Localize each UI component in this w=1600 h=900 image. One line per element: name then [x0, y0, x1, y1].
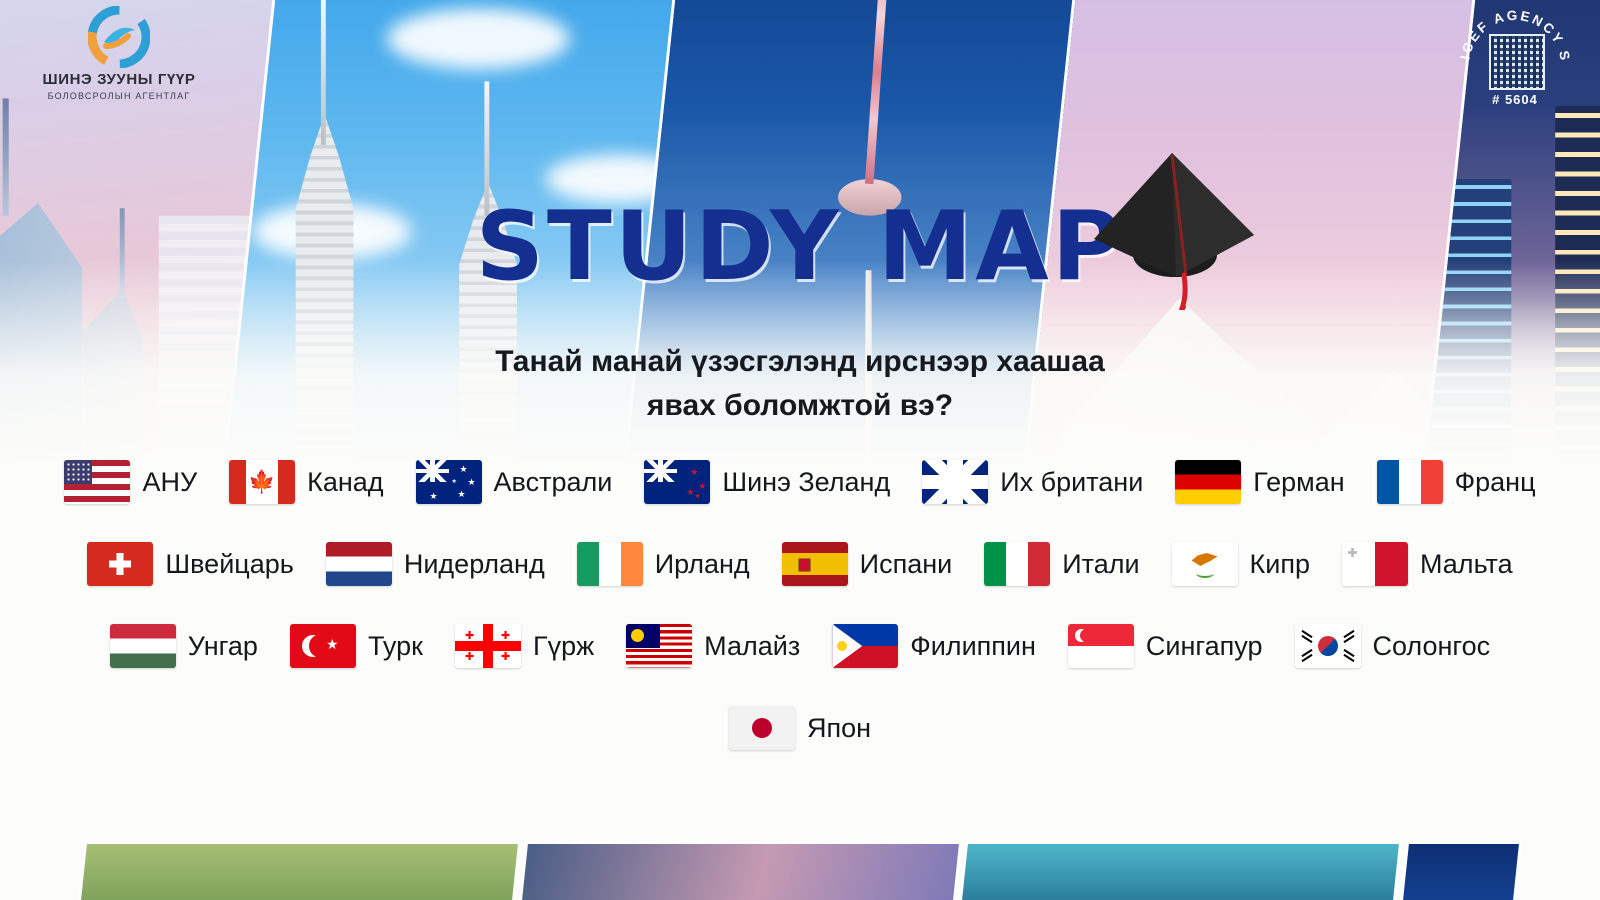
- country-label: Испани: [860, 549, 953, 580]
- brand-name: ШИНЭ ЗУУНЫ ГҮҮР: [24, 72, 214, 89]
- bottom-panel-dusk-portrait: [522, 844, 959, 900]
- country-label: Их британи: [1000, 467, 1143, 498]
- country-label: Итали: [1062, 549, 1139, 580]
- page-subtitle: Танай манай үзэсгэлэнд ирснээр хаашаа яв…: [0, 340, 1600, 427]
- country-item[interactable]: Япон: [717, 706, 883, 750]
- country-label: Унгар: [188, 631, 258, 662]
- country-item[interactable]: Малайз: [614, 624, 812, 668]
- country-label: Кипр: [1250, 549, 1310, 580]
- brand-logo: ШИНЭ ЗУУНЫ ГҮҮР БОЛОВСРОЛЫН АГЕНТЛАГ: [24, 6, 214, 101]
- bottom-panel-green-landscape: [81, 844, 518, 900]
- country-item[interactable]: ★Турк: [278, 624, 435, 668]
- country-flag-grid: АНУКанад★★★★★Австрали★★★★Шинэ ЗеландИх б…: [0, 460, 1600, 788]
- country-item[interactable]: Кипр: [1160, 542, 1322, 586]
- country-item[interactable]: Ирланд: [565, 542, 762, 586]
- country-item[interactable]: ★★★★Шинэ Зеланд: [632, 460, 902, 504]
- flag-hu-icon: [110, 624, 176, 668]
- bottom-panel-ocean-teal: [962, 844, 1399, 900]
- icef-number: # 5604: [1456, 92, 1574, 107]
- country-item[interactable]: Сингапур: [1056, 624, 1275, 668]
- flag-kr-icon: [1295, 624, 1361, 668]
- bottom-image-strip: [0, 844, 1600, 900]
- country-item[interactable]: ★★★★★Австрали: [404, 460, 625, 504]
- flag-nl-icon: [326, 542, 392, 586]
- flag-de-icon: [1175, 460, 1241, 504]
- country-item[interactable]: Их британи: [910, 460, 1155, 504]
- flag-mt-icon: [1342, 542, 1408, 586]
- flag-fr-icon: [1377, 460, 1443, 504]
- country-label: Нидерланд: [404, 549, 545, 580]
- country-label: Малайз: [704, 631, 800, 662]
- country-item[interactable]: ✚✚✚✚Гүрж: [443, 624, 606, 668]
- flag-gb-icon: [922, 460, 988, 504]
- country-item[interactable]: Унгар: [98, 624, 270, 668]
- graduation-cap-icon: [1080, 135, 1260, 310]
- country-label: Гүрж: [533, 631, 594, 662]
- flag-row-3: Унгар★Турк✚✚✚✚ГүржМалайзФилиппинСингапур…: [0, 624, 1600, 668]
- flag-ie-icon: [577, 542, 643, 586]
- flag-ph-icon: [832, 624, 898, 668]
- country-item[interactable]: Филиппин: [820, 624, 1048, 668]
- icef-agency-status-badge: ICEF AGENCY STATUS # 5604: [1456, 4, 1574, 122]
- country-label: Филиппин: [910, 631, 1036, 662]
- country-label: Мальта: [1420, 549, 1513, 580]
- country-label: Герман: [1253, 467, 1344, 498]
- country-item[interactable]: Швейцарь: [75, 542, 305, 586]
- country-label: АНУ: [142, 467, 197, 498]
- flag-sg-icon: [1068, 624, 1134, 668]
- country-label: Франц: [1455, 467, 1536, 498]
- flag-cy-icon: [1172, 542, 1238, 586]
- country-item[interactable]: Мальта: [1330, 542, 1525, 586]
- flag-au-icon: ★★★★★: [416, 460, 482, 504]
- country-item[interactable]: Франц: [1365, 460, 1548, 504]
- flag-tr-icon: ★: [290, 624, 356, 668]
- country-label: Япон: [807, 713, 871, 744]
- country-item[interactable]: Герман: [1163, 460, 1356, 504]
- country-label: Австрали: [494, 467, 613, 498]
- flag-nz-icon: ★★★★: [644, 460, 710, 504]
- subtitle-line-2: явах боломжтой вэ?: [0, 384, 1600, 428]
- country-label: Канад: [307, 467, 383, 498]
- country-item[interactable]: АНУ: [52, 460, 209, 504]
- country-item[interactable]: Испани: [770, 542, 965, 586]
- country-label: Сингапур: [1146, 631, 1263, 662]
- flag-ca-icon: [229, 460, 295, 504]
- qr-code-icon: [1489, 34, 1545, 90]
- country-item[interactable]: Канад: [217, 460, 395, 504]
- flag-jp-icon: [729, 706, 795, 750]
- country-item[interactable]: Нидерланд: [314, 542, 557, 586]
- country-item[interactable]: Итали: [972, 542, 1151, 586]
- study-map-poster: ШИНЭ ЗУУНЫ ГҮҮР БОЛОВСРОЛЫН АГЕНТЛАГ ICE…: [0, 0, 1600, 900]
- country-label: Шинэ Зеланд: [722, 467, 890, 498]
- flag-ge-icon: ✚✚✚✚: [455, 624, 521, 668]
- bottom-panel-deep-blue: [1403, 844, 1519, 900]
- brand-subtitle: БОЛОВСРОЛЫН АГЕНТЛАГ: [24, 91, 214, 101]
- flag-my-icon: [626, 624, 692, 668]
- flag-it-icon: [984, 542, 1050, 586]
- country-label: Ирланд: [655, 549, 750, 580]
- country-label: Швейцарь: [165, 549, 293, 580]
- flag-ch-icon: [87, 542, 153, 586]
- subtitle-line-1: Танай манай үзэсгэлэнд ирснээр хаашаа: [0, 340, 1600, 384]
- flag-es-icon: [782, 542, 848, 586]
- page-title: STUDY MAP: [0, 192, 1600, 302]
- country-label: Солонгос: [1373, 631, 1491, 662]
- country-label: Турк: [368, 631, 423, 662]
- flag-row-4: Япон: [0, 706, 1600, 750]
- flag-row-1: АНУКанад★★★★★Австрали★★★★Шинэ ЗеландИх б…: [0, 460, 1600, 504]
- flag-row-2: ШвейцарьНидерландИрландИспаниИталиКипрМа…: [0, 542, 1600, 586]
- flag-us-icon: [64, 460, 130, 504]
- globe-logo-icon: [88, 6, 150, 68]
- country-item[interactable]: Солонгос: [1283, 624, 1503, 668]
